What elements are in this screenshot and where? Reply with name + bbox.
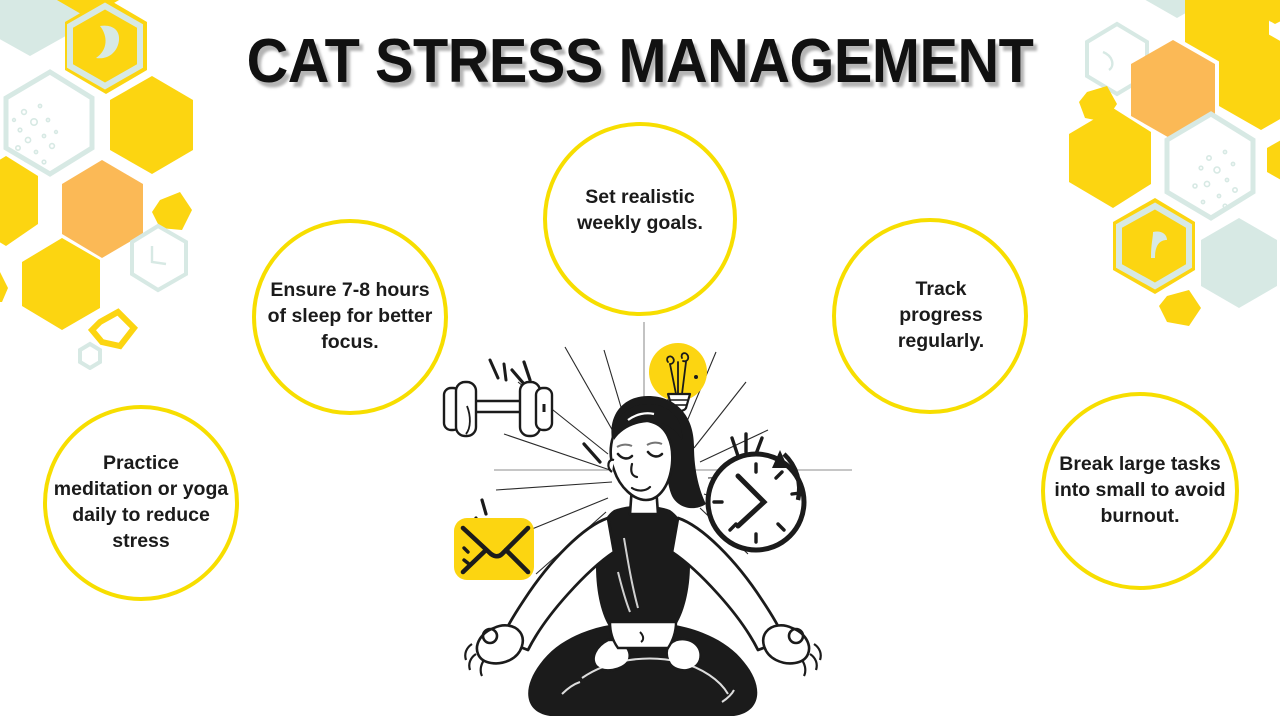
yellow-hexagon-clock xyxy=(1113,198,1195,294)
tip-text-break: Break large tasks into small to avoid bu… xyxy=(1046,452,1234,530)
tip-text-goals: Set realistic weekly goals. xyxy=(558,185,722,237)
dumbbell-icon xyxy=(444,382,552,436)
yellow-diamond xyxy=(152,192,192,230)
mint-hexagon-clock xyxy=(132,226,186,290)
orange-hexagon xyxy=(62,160,143,258)
clock-glyph xyxy=(1151,231,1167,258)
mint-hexagon xyxy=(1201,218,1277,308)
yellow-hexagon-small xyxy=(0,272,8,302)
dumbbell-sparkle xyxy=(490,360,506,380)
yellow-hexagon xyxy=(1251,0,1280,24)
yellow-hexagon xyxy=(0,156,38,246)
yellow-diamond-outline xyxy=(92,312,134,346)
mint-hexagon-dotted xyxy=(1167,114,1253,218)
mint-hexagon-tiny xyxy=(80,344,100,368)
dots-glyph xyxy=(1193,150,1237,207)
mint-hexagon-outline xyxy=(1243,0,1280,20)
envelope-icon xyxy=(454,518,534,580)
mint-hexagon-outline xyxy=(1119,206,1189,286)
clock-glyph xyxy=(152,246,166,264)
tip-text-track: Track progress regularly. xyxy=(870,277,1012,355)
yellow-diamond xyxy=(1159,290,1201,326)
poster-canvas: CAT STRESS MANAGEMENT xyxy=(0,0,1280,720)
mint-hexagon xyxy=(1135,0,1219,18)
tip-bubble-break[interactable]: Break large tasks into small to avoid bu… xyxy=(1041,392,1239,590)
right-hand xyxy=(763,625,821,676)
tip-bubble-sleep[interactable]: Ensure 7-8 hours of sleep for better foc… xyxy=(252,219,448,415)
tip-bubble-track[interactable]: Track progress regularly. xyxy=(832,218,1028,414)
yellow-hexagon xyxy=(50,0,126,18)
page-title: CAT STRESS MANAGEMENT xyxy=(45,26,1235,98)
yellow-hexagon xyxy=(22,238,100,330)
meditating-woman-illustration xyxy=(432,322,852,720)
tip-bubble-goals[interactable]: Set realistic weekly goals. xyxy=(543,122,737,316)
tip-text-practice: Practice meditation or yoga daily to red… xyxy=(47,451,235,555)
left-hand xyxy=(465,625,523,676)
tip-bubble-practice[interactable]: Practice meditation or yoga daily to red… xyxy=(43,405,239,601)
yellow-hexagon-small xyxy=(1267,132,1280,188)
yellow-hexagon xyxy=(1069,108,1151,208)
tip-text-sleep: Ensure 7-8 hours of sleep for better foc… xyxy=(259,278,441,356)
dots-glyph xyxy=(13,104,58,163)
